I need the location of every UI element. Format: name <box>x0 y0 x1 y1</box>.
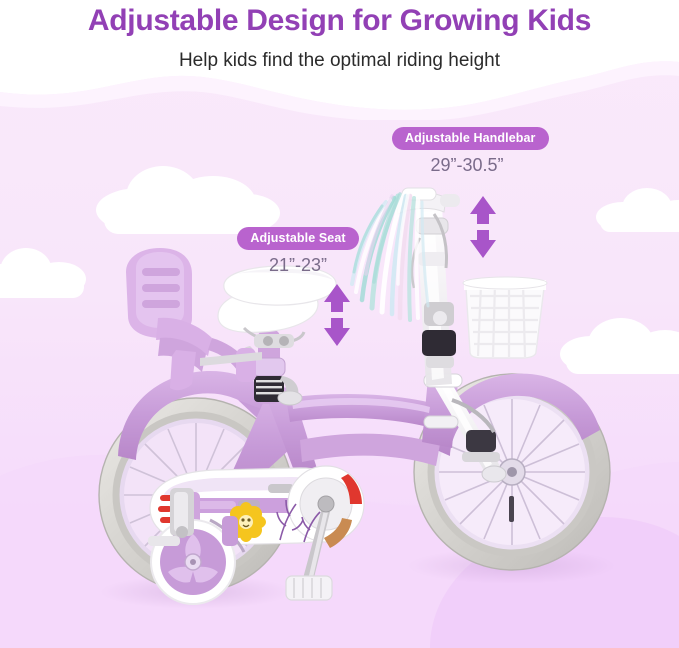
arrows-handlebar <box>466 194 500 260</box>
badge-adjustable-handlebar: Adjustable Handlebar <box>392 127 549 150</box>
page-subtitle: Help kids find the optimal riding height <box>0 38 679 72</box>
arrow-down-icon <box>324 318 350 346</box>
arrow-up-icon <box>324 284 350 312</box>
saddle <box>218 266 336 348</box>
header: Adjustable Design for Growing Kids Help … <box>0 0 679 72</box>
arrow-down-icon <box>470 230 496 258</box>
callout-adjustable-handlebar: Adjustable Handlebar 29”-30.5” <box>392 127 542 176</box>
measurement-handlebar: 29”-30.5” <box>392 155 542 176</box>
callout-adjustable-seat: Adjustable Seat 21”-23” <box>228 227 368 276</box>
page-title: Adjustable Design for Growing Kids <box>0 0 679 38</box>
arrow-up-icon <box>470 196 496 224</box>
front-basket <box>463 277 547 358</box>
arrows-seat <box>320 282 354 348</box>
badge-adjustable-seat: Adjustable Seat <box>237 227 358 250</box>
valve-stem <box>509 496 514 522</box>
measurement-seat: 21”-23” <box>228 255 368 276</box>
promo-banner: Adjustable Design for Growing Kids Help … <box>0 0 679 648</box>
